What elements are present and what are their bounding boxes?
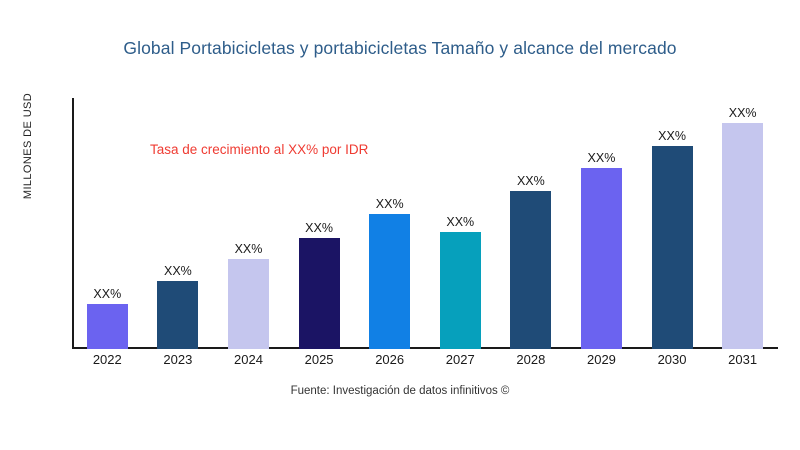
bar-group: XX% bbox=[284, 98, 355, 349]
growth-rate-annotation: Tasa de crecimiento al XX% por IDR bbox=[150, 142, 368, 157]
bar-group: XX% bbox=[707, 98, 778, 349]
bar-group: XX% bbox=[72, 98, 143, 349]
bar[interactable] bbox=[87, 304, 128, 349]
x-tick-label: 2031 bbox=[707, 352, 778, 367]
bar[interactable] bbox=[510, 191, 551, 349]
bar[interactable] bbox=[369, 214, 410, 349]
bar-value-label: XX% bbox=[588, 152, 616, 165]
bar-value-label: XX% bbox=[305, 222, 333, 235]
x-tick-label: 2029 bbox=[566, 352, 637, 367]
x-axis-tick-labels: 2022202320242025202620272028202920302031 bbox=[72, 352, 778, 367]
bar[interactable] bbox=[228, 259, 269, 349]
x-tick-label: 2024 bbox=[213, 352, 284, 367]
bar-group: XX% bbox=[566, 98, 637, 349]
bar-value-label: XX% bbox=[446, 216, 474, 229]
bar-value-label: XX% bbox=[729, 107, 757, 120]
chart-figure: Global Portabicicletas y portabicicletas… bbox=[0, 0, 800, 450]
bar-value-label: XX% bbox=[376, 198, 404, 211]
bar-group: XX% bbox=[213, 98, 284, 349]
source-footer: Fuente: Investigación de datos infinitiv… bbox=[0, 385, 800, 397]
bar[interactable] bbox=[440, 232, 481, 349]
bar[interactable] bbox=[722, 123, 763, 349]
bar-group: XX% bbox=[143, 98, 214, 349]
x-tick-label: 2030 bbox=[637, 352, 708, 367]
bar-group: XX% bbox=[496, 98, 567, 349]
x-tick-label: 2026 bbox=[354, 352, 425, 367]
bar-value-label: XX% bbox=[235, 243, 263, 256]
bar-value-label: XX% bbox=[658, 130, 686, 143]
bar[interactable] bbox=[299, 238, 340, 349]
x-tick-label: 2023 bbox=[143, 352, 214, 367]
x-tick-label: 2025 bbox=[284, 352, 355, 367]
bar-group: XX% bbox=[637, 98, 708, 349]
x-tick-label: 2027 bbox=[425, 352, 496, 367]
bar-value-label: XX% bbox=[93, 288, 121, 301]
bar-series: XX%XX%XX%XX%XX%XX%XX%XX%XX%XX% bbox=[72, 98, 778, 349]
x-tick-label: 2028 bbox=[496, 352, 567, 367]
bar-value-label: XX% bbox=[164, 265, 192, 278]
bar[interactable] bbox=[652, 146, 693, 349]
bar-group: XX% bbox=[425, 98, 496, 349]
chart-title: Global Portabicicletas y portabicicletas… bbox=[0, 38, 800, 59]
bar-value-label: XX% bbox=[517, 175, 545, 188]
x-tick-label: 2022 bbox=[72, 352, 143, 367]
bar[interactable] bbox=[157, 281, 198, 349]
bar-group: XX% bbox=[354, 98, 425, 349]
bar[interactable] bbox=[581, 168, 622, 349]
plot-area: XX%XX%XX%XX%XX%XX%XX%XX%XX%XX% bbox=[72, 98, 778, 349]
y-axis-label: MILLONES DE USD bbox=[22, 36, 34, 256]
